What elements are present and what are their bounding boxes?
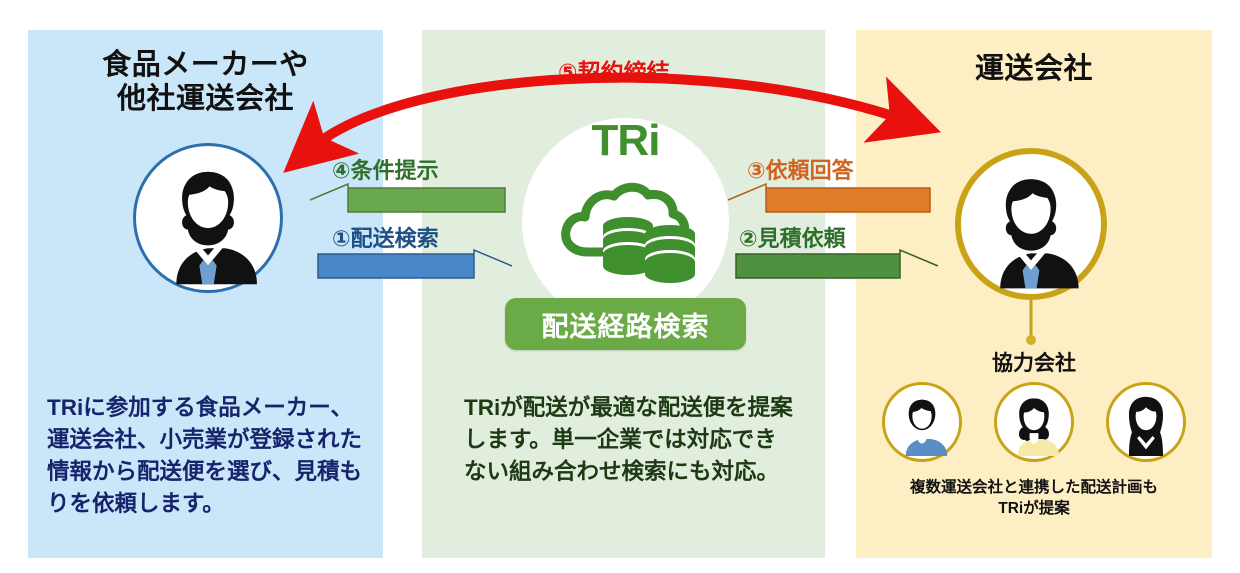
- diagram-canvas: 食品メーカーや他社運送会社 運送会社 TRi: [0, 0, 1240, 573]
- cloud-database-icon: [552, 168, 702, 293]
- arrow-quote-request-green: [736, 250, 938, 278]
- route-search-button[interactable]: 配送経路検索: [505, 298, 746, 350]
- arrow-label-quote-request: ②見積依頼: [739, 221, 846, 253]
- arrow-label-delivery-search: ①配送検索: [332, 221, 439, 253]
- tri-wordmark: TRi: [522, 116, 729, 166]
- arrow-label-contract: ⑤契約締結: [558, 53, 669, 87]
- route-search-label: 配送経路検索: [542, 305, 710, 344]
- arrow-label-quote-reply: ③依頼回答: [747, 153, 854, 185]
- arrow-delivery-search-blue: [318, 250, 512, 278]
- arrow-quote-reply-orange: [728, 184, 930, 212]
- arrow-condition-green: [310, 184, 505, 212]
- arrow-label-condition: ④条件提示: [332, 153, 439, 185]
